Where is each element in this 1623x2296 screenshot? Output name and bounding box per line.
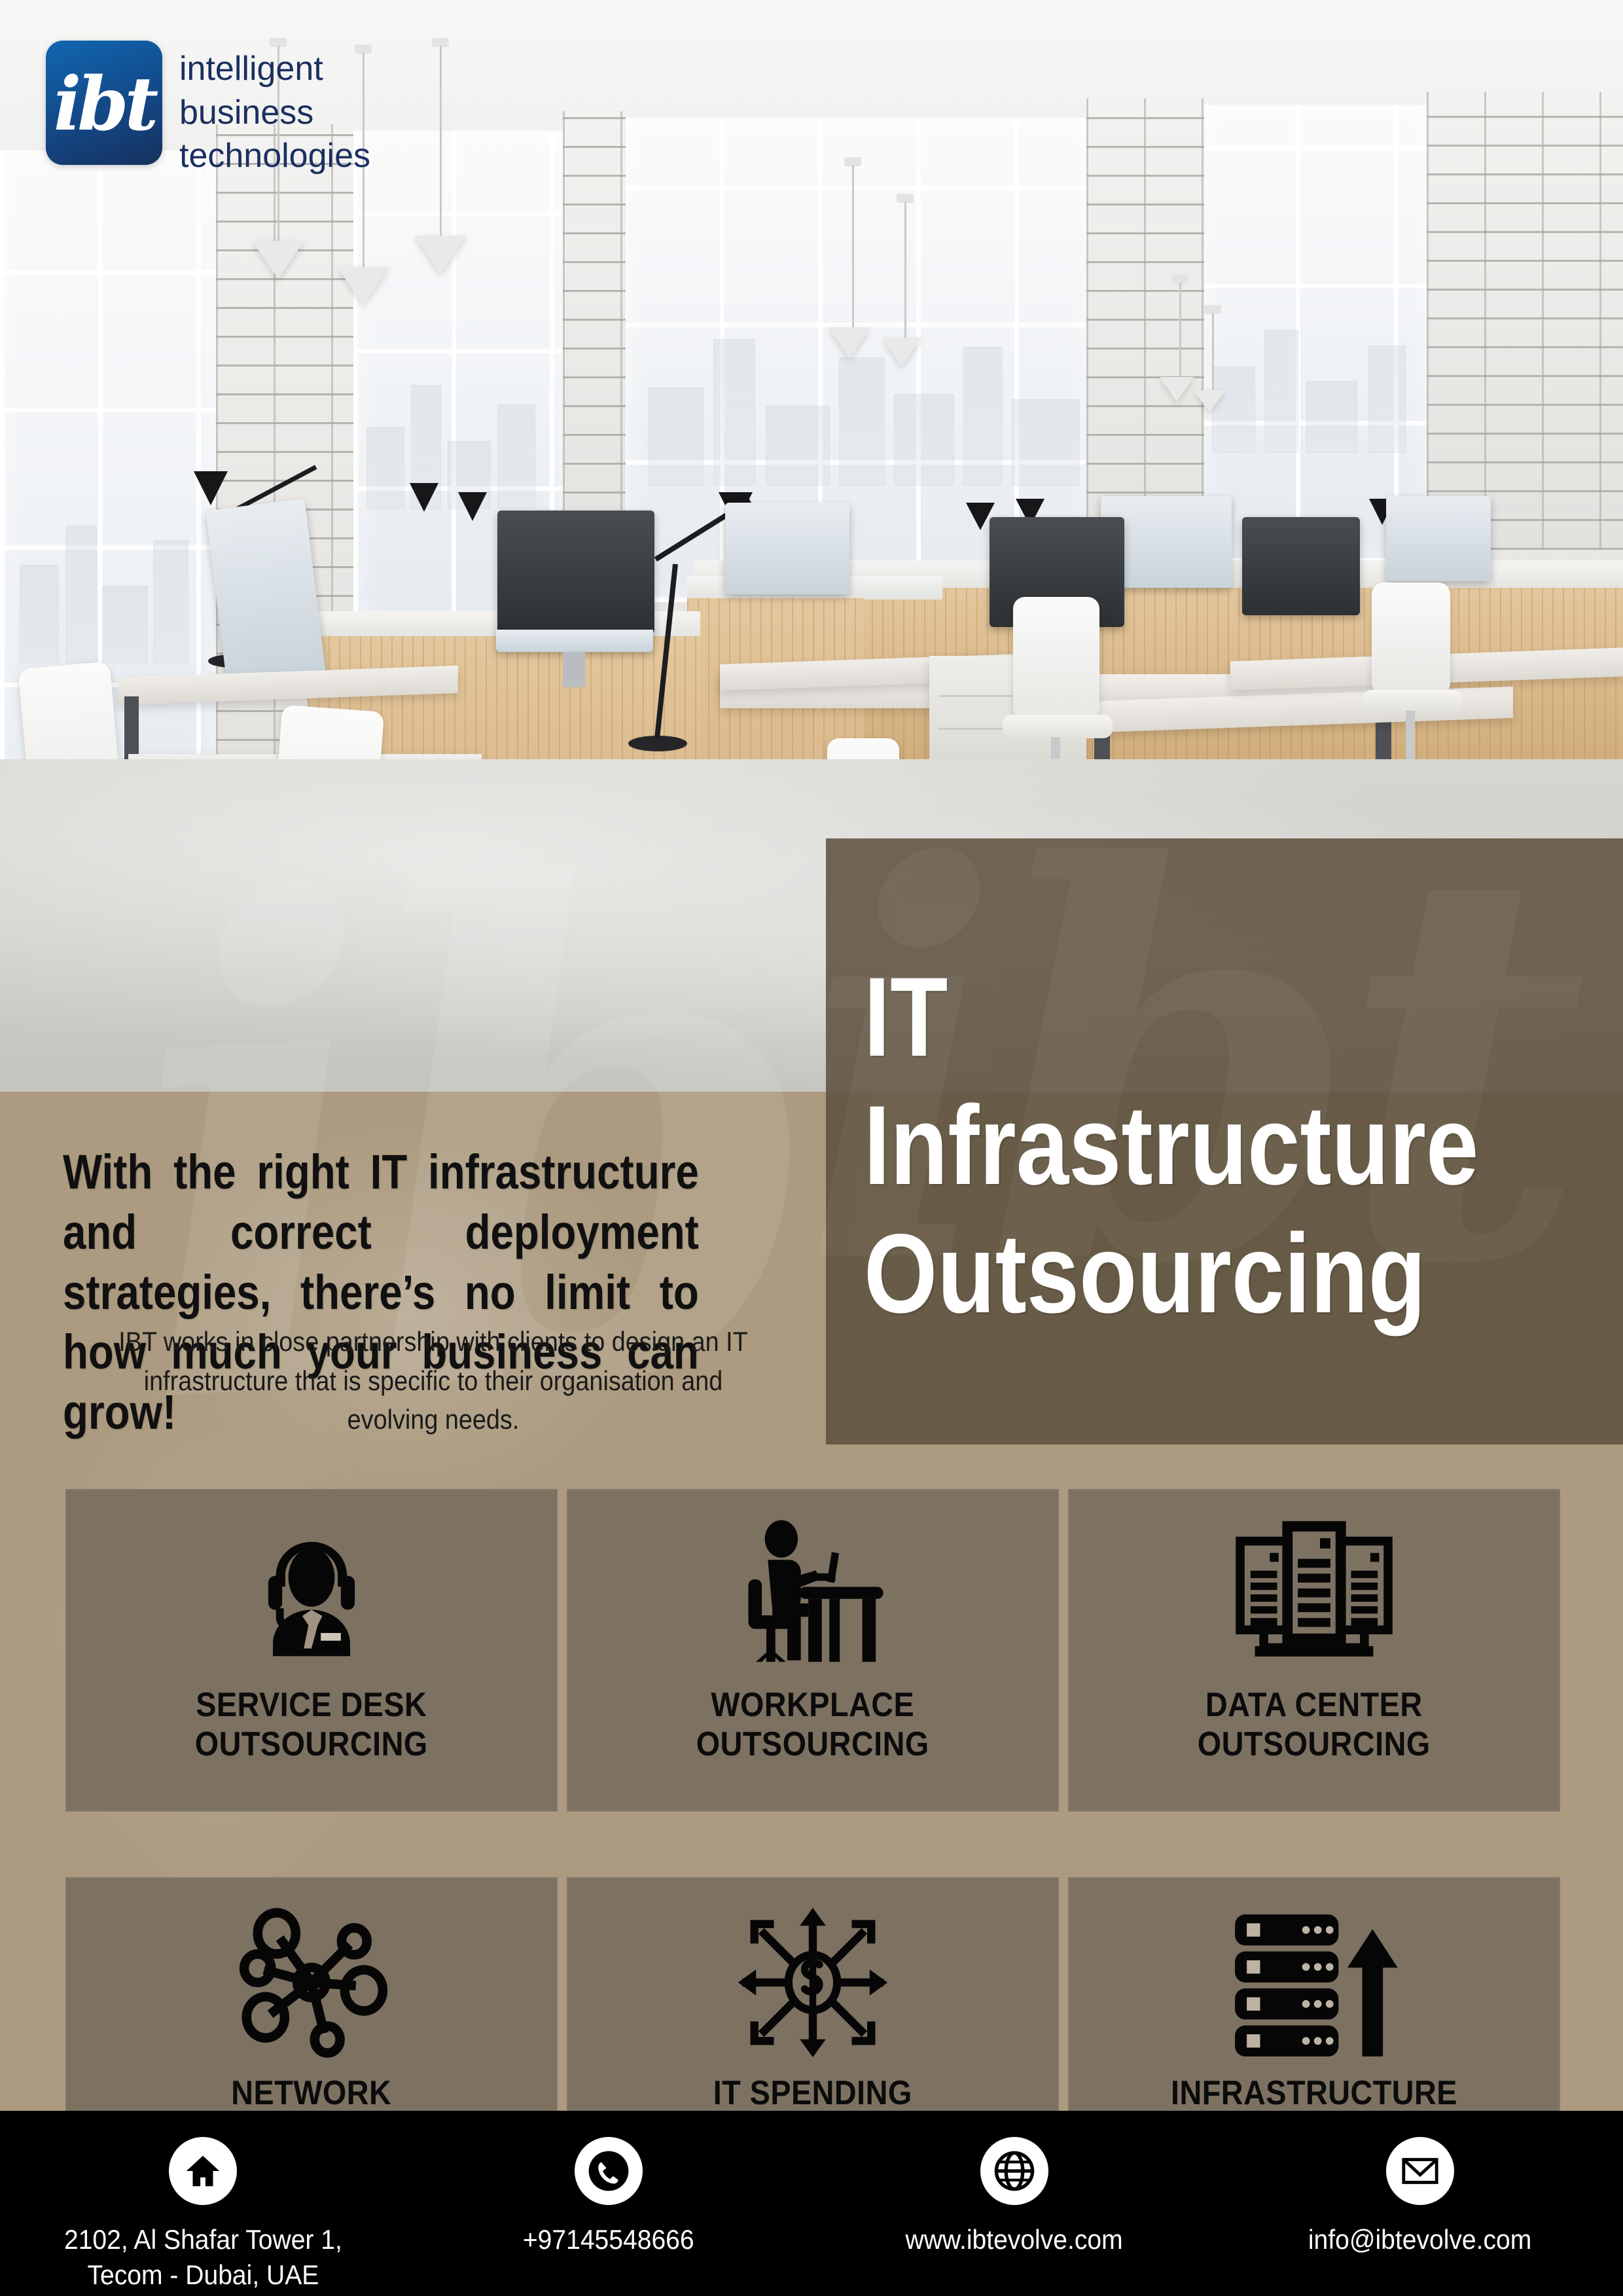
monitor (725, 503, 849, 594)
brand-name-line-1: intelligent (179, 47, 370, 91)
monitor (496, 630, 653, 652)
window-pane (1198, 105, 1433, 563)
monitor (1386, 496, 1491, 581)
page-title-line-1: IT Infrastructure (864, 953, 1485, 1210)
poster-page: ibt ibt IT Infrastructure Outsourcing Wi… (0, 0, 1623, 2296)
page-title: IT Infrastructure Outsourcing (864, 953, 1485, 1338)
hero-title-panel: ibt IT Infrastructure Outsourcing (826, 838, 1623, 1444)
service-card-data-center-outsourcing[interactable]: DATA CENTER OUTSOURCING (1068, 1489, 1560, 1812)
service-card-workplace-outsourcing[interactable]: WORKPLACE OUTSOURCING (567, 1489, 1059, 1812)
brand-name-line-2: business (179, 91, 370, 135)
footer-item-phone[interactable]: +97145548666 (406, 2111, 811, 2257)
services-row: SERVICE DESK OUTSOURCING (65, 1489, 1561, 1812)
network-nodes-icon (230, 1901, 393, 2064)
footer-item-text: 2102, Al Shafar Tower 1, Tecom - Dubai, … (64, 2222, 342, 2293)
brand-logo[interactable]: ibt intelligent business technologies (46, 41, 370, 178)
task-lamp-head (458, 492, 487, 521)
brick-column (1427, 92, 1623, 550)
monitor-stand (563, 652, 585, 687)
footer-item-text: info@ibtevolve.com (1308, 2222, 1531, 2257)
footer-item-text: www.ibtevolve.com (906, 2222, 1123, 2257)
phone-icon (575, 2137, 643, 2205)
footer-item-text: +97145548666 (523, 2222, 694, 2257)
home-icon (169, 2137, 237, 2205)
monitor (205, 499, 326, 685)
globe-icon (980, 2137, 1048, 2205)
task-lamp-head (410, 483, 438, 512)
footer-item-website[interactable]: www.ibtevolve.com (811, 2111, 1217, 2257)
monitor (497, 511, 654, 634)
dollar-arrows-icon (732, 1901, 894, 2064)
service-card-label: DATA CENTER OUTSOURCING (1198, 1685, 1431, 1765)
server-racks-icon (1230, 1513, 1398, 1676)
page-title-line-2: Outsourcing (864, 1210, 1485, 1338)
service-card-label: WORKPLACE OUTSOURCING (696, 1685, 929, 1765)
brand-name: intelligent business technologies (179, 41, 370, 178)
monitor (1242, 517, 1360, 615)
footer-contact-bar: 2102, Al Shafar Tower 1, Tecom - Dubai, … (0, 2111, 1623, 2296)
ibt-logo-mark: ibt (46, 41, 162, 165)
email-icon (1386, 2137, 1454, 2205)
footer-item-email[interactable]: info@ibtevolve.com (1217, 2111, 1623, 2257)
person-at-desk-laptop-icon (730, 1513, 895, 1676)
headset-agent-icon (234, 1513, 389, 1676)
service-card-service-desk-outsourcing[interactable]: SERVICE DESK OUTSOURCING (65, 1489, 558, 1812)
server-stack-arrow-up-icon (1229, 1901, 1399, 2064)
footer-item-address[interactable]: 2102, Al Shafar Tower 1, Tecom - Dubai, … (0, 2111, 406, 2293)
brand-name-line-3: technologies (179, 134, 370, 178)
ibt-logo-text: ibt (54, 68, 155, 141)
intro-body: IBT works in close partnership with clie… (100, 1322, 767, 1439)
service-card-label: SERVICE DESK OUTSOURCING (195, 1685, 428, 1765)
